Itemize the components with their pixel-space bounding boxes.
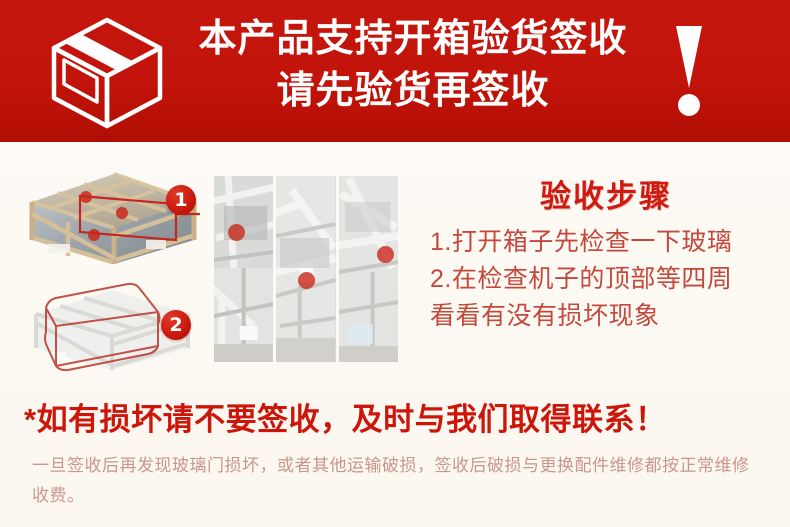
exclamation-mark-icon bbox=[672, 26, 712, 118]
headline-line-2: 请先验货再签收 bbox=[176, 68, 650, 114]
crate-badge-2: 2 bbox=[161, 310, 191, 340]
crate-badge-1: 1 bbox=[166, 185, 196, 215]
crate-detail-photo-3 bbox=[339, 176, 398, 362]
promo-banner-page: 本产品支持开箱验货签收 请先验货再签收 bbox=[0, 0, 790, 527]
disclaimer-text: 一旦签收后再发现玻璃门损坏，或者其他运输破损，签收后破损与更换配件维修都按正常维… bbox=[32, 451, 762, 511]
inspection-marker-dot bbox=[228, 224, 245, 241]
inspection-marker-dot bbox=[377, 246, 394, 263]
crate-detail-photo-grid bbox=[214, 176, 398, 362]
damage-warning-text: *如有损坏请不要签收，及时与我们取得联系！ bbox=[24, 400, 667, 440]
banner-headline: 本产品支持开箱验货签收 请先验货再签收 bbox=[176, 16, 650, 114]
step-line-1: 1.打开箱子先检查一下玻璃 bbox=[430, 224, 782, 261]
notice-section: *如有损坏请不要签收，及时与我们取得联系！ 一旦签收后再发现玻璃门损坏，或者其他… bbox=[0, 387, 790, 527]
crate-detail-photo-2 bbox=[276, 176, 335, 362]
step-line-3: 看看有没有损坏现象 bbox=[430, 298, 782, 335]
exclamation-dot bbox=[678, 94, 700, 116]
header-banner: 本产品支持开箱验货签收 请先验货再签收 bbox=[0, 0, 790, 142]
headline-line-1: 本产品支持开箱验货签收 bbox=[176, 16, 650, 62]
exclamation-bar bbox=[676, 26, 702, 88]
inspection-section: 1 bbox=[0, 142, 790, 387]
steps-title: 验收步骤 bbox=[430, 178, 782, 216]
inspection-steps-block: 验收步骤 1.打开箱子先检查一下玻璃 2.在检查机子的顶部等四周 看看有没有损坏… bbox=[430, 178, 782, 335]
crate-photo-1 bbox=[18, 166, 208, 266]
step-line-2: 2.在检查机子的顶部等四周 bbox=[430, 261, 782, 298]
crate-detail-photo-1 bbox=[214, 176, 273, 362]
package-box-icon bbox=[48, 14, 166, 130]
